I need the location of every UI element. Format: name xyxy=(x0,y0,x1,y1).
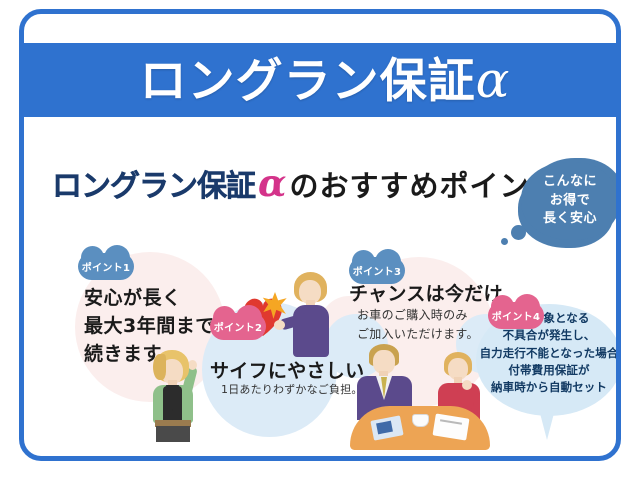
point-4-balloon-tail xyxy=(536,398,558,440)
subtitle-rest-text: のおすすめポイント xyxy=(289,169,559,203)
point-3-badge: ポイント3 xyxy=(349,257,405,284)
point-4-badge: ポイント4 xyxy=(488,302,544,329)
point-1-headline: 安心が長く 最大3年間まで 続きます xyxy=(84,284,215,368)
page-title: ロングラン保証α xyxy=(140,55,511,105)
thought-bubble: こんなに お得で 長く安心 xyxy=(521,162,619,240)
thought-bubble-dot-small xyxy=(501,238,508,245)
illustration-woman-holding-heart xyxy=(272,272,338,368)
thought-bubble-line-3: 長く安心 xyxy=(543,210,597,229)
title-banner: ロングラン保証α xyxy=(23,43,621,117)
point-2-headline: サイフにやさしい xyxy=(210,359,364,384)
title-brand-text: ロングラン保証 xyxy=(140,54,476,109)
point-1-badge-label: ポイント1 xyxy=(82,259,130,274)
point-2-badge: ポイント2 xyxy=(210,313,266,340)
thought-bubble-line-1: こんなに xyxy=(543,173,597,192)
point-2-badge-label: ポイント2 xyxy=(214,319,262,334)
right-edge-accent-bar xyxy=(620,117,621,447)
point-2-subtext: 1日あたりわずかなご負担。 xyxy=(221,383,363,397)
title-alpha-symbol: α xyxy=(476,51,511,109)
subtitle-alpha-symbol: α xyxy=(255,161,289,205)
subtitle-brand-text: ロングラン保証 xyxy=(52,169,255,204)
point-1-badge: ポイント1 xyxy=(78,253,134,280)
thought-bubble-line-2: お得で xyxy=(550,192,591,211)
point-3-badge-label: ポイント3 xyxy=(353,263,401,278)
thought-bubble-dot-large xyxy=(511,225,526,240)
point-4-badge-label: ポイント4 xyxy=(492,308,540,323)
poster-frame: ロングラン保証α ロングラン保証αのおすすめポイント こんなに お得で 長く安心… xyxy=(19,9,621,461)
illustration-table-with-documents xyxy=(350,406,490,450)
subtitle: ロングラン保証αのおすすめポイント xyxy=(52,165,560,202)
point-3-headline: チャンスは今だけ xyxy=(349,282,503,307)
point-3-subtext: お車のご購入時のみ ご加入いただけます。 xyxy=(357,306,479,343)
